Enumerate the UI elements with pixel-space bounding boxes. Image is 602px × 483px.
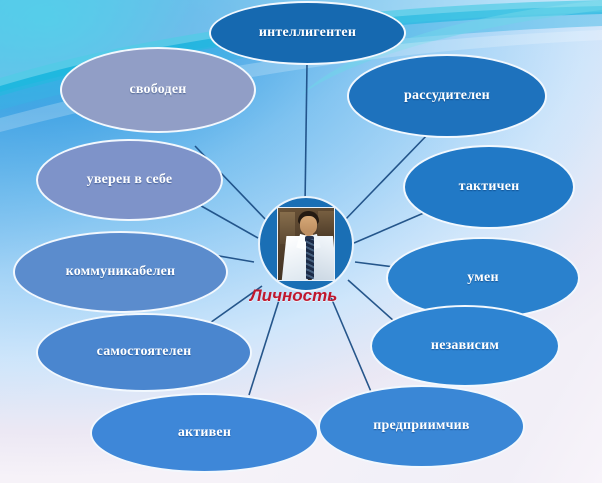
- node-predpriimchiv[interactable]: предприимчив: [318, 385, 525, 468]
- node-label: интеллигентен: [259, 26, 356, 41]
- node-svoboden[interactable]: свободен: [60, 47, 256, 133]
- connector-predpriimchiv: [330, 295, 372, 394]
- connector-intelligenten: [305, 64, 307, 205]
- node-label: тактичен: [459, 180, 520, 195]
- node-label: рассудителен: [404, 89, 490, 104]
- center-photo: [277, 207, 335, 281]
- node-label: уверен в себе: [87, 173, 173, 188]
- node-label: коммуникабелен: [66, 265, 176, 280]
- node-label: независим: [431, 339, 499, 354]
- node-label: самостоятелен: [97, 345, 192, 360]
- node-label: умен: [467, 271, 498, 286]
- node-nezavisim[interactable]: независим: [370, 305, 560, 387]
- node-label: свободен: [129, 83, 186, 98]
- connector-uveren: [196, 203, 258, 238]
- slide-canvas: интеллигентенрассудителентактиченуменнез…: [0, 0, 602, 483]
- node-label: предприимчив: [373, 419, 469, 434]
- node-kommunikabelen[interactable]: коммуникабелен: [13, 231, 228, 313]
- node-uveren[interactable]: уверен в себе: [36, 139, 223, 221]
- node-taktichen[interactable]: тактичен: [403, 145, 575, 229]
- center-hub[interactable]: [258, 196, 354, 292]
- node-aktiven[interactable]: активен: [90, 393, 319, 473]
- center-label: Личность: [250, 286, 337, 306]
- node-samostoyatelen[interactable]: самостоятелен: [36, 313, 252, 392]
- node-label: активен: [178, 426, 231, 441]
- connector-aktiven: [249, 297, 280, 395]
- node-intelligenten[interactable]: интеллигентен: [209, 1, 406, 65]
- node-rassuditelen[interactable]: рассудителен: [347, 54, 547, 138]
